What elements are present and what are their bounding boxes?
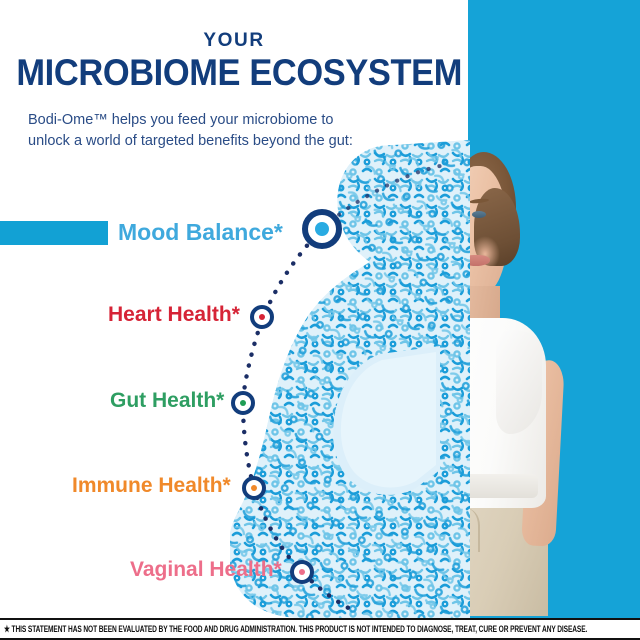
benefit-label-heart-health[interactable]: Heart Health* — [108, 303, 240, 327]
benefit-label-immune-health[interactable]: Immune Health* — [72, 474, 231, 498]
marker-core-icon — [299, 569, 305, 575]
subtitle-text: Bodi-Ome™ helps you feed your microbiome… — [28, 110, 358, 152]
marker-mood-balance[interactable] — [302, 209, 342, 249]
disclaimer-bar: ★ THIS STATEMENT HAS NOT BEEN EVALUATED … — [0, 618, 640, 640]
benefit-label-gut-health[interactable]: Gut Health* — [110, 389, 224, 413]
marker-core-icon — [240, 400, 246, 406]
disclaimer-text: ★ THIS STATEMENT HAS NOT BEEN EVALUATED … — [0, 623, 587, 635]
benefit-label-vaginal-health[interactable]: Vaginal Health* — [130, 558, 282, 582]
kicker-text: YOUR — [0, 30, 468, 52]
marker-core-icon — [259, 314, 265, 320]
marker-immune-health[interactable] — [242, 476, 266, 500]
accent-bar — [0, 221, 108, 245]
marker-heart-health[interactable] — [250, 305, 274, 329]
dotted-connector-arc — [0, 0, 640, 640]
page-title: MICROBIOME ECOSYSTEM — [16, 52, 451, 94]
marker-vaginal-health[interactable] — [290, 560, 314, 584]
marker-core-icon — [251, 485, 257, 491]
benefit-label-mood-balance[interactable]: Mood Balance* — [118, 219, 283, 246]
marker-gut-health[interactable] — [231, 391, 255, 415]
infographic-canvas: YOUR MICROBIOME ECOSYSTEM Bodi-Ome™ help… — [0, 0, 640, 640]
marker-core-icon — [315, 222, 329, 236]
